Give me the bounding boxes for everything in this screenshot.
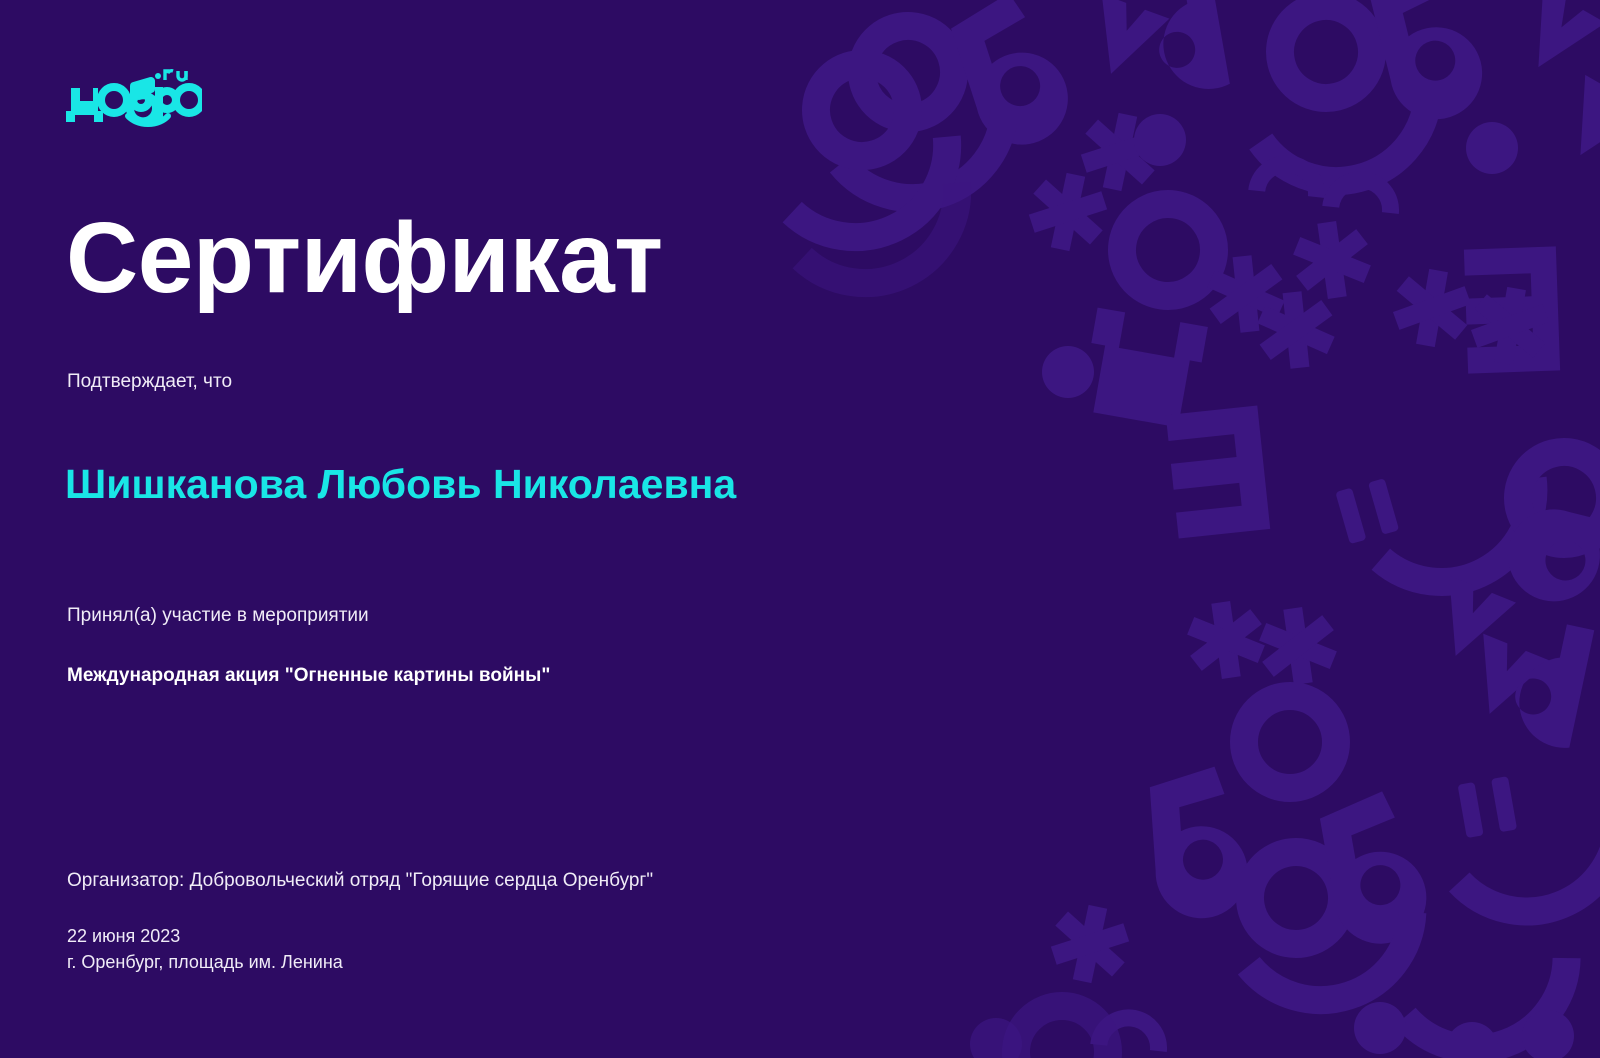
organizer-line: Организатор: Добровольческий отряд "Горя… [67,868,653,894]
page-title: Сертификат [66,205,663,311]
confirms-label: Подтверждает, что [67,369,232,395]
certificate-content: Сертификат Подтверждает, что Шишканова Л… [0,0,1600,1058]
dobro-ru-logo[interactable] [66,62,202,128]
event-location: г. Оренбург, площадь им. Ленина [67,949,343,975]
event-name: Международная акция "Огненные картины во… [67,663,550,689]
event-date: 22 июня 2023 [67,923,343,949]
participation-label: Принял(а) участие в мероприятии [67,603,369,629]
event-meta: 22 июня 2023 г. Оренбург, площадь им. Ле… [67,923,343,975]
recipient-name: Шишканова Любовь Николаевна [65,457,765,511]
certificate-page: Сертификат Подтверждает, что Шишканова Л… [0,0,1600,1058]
